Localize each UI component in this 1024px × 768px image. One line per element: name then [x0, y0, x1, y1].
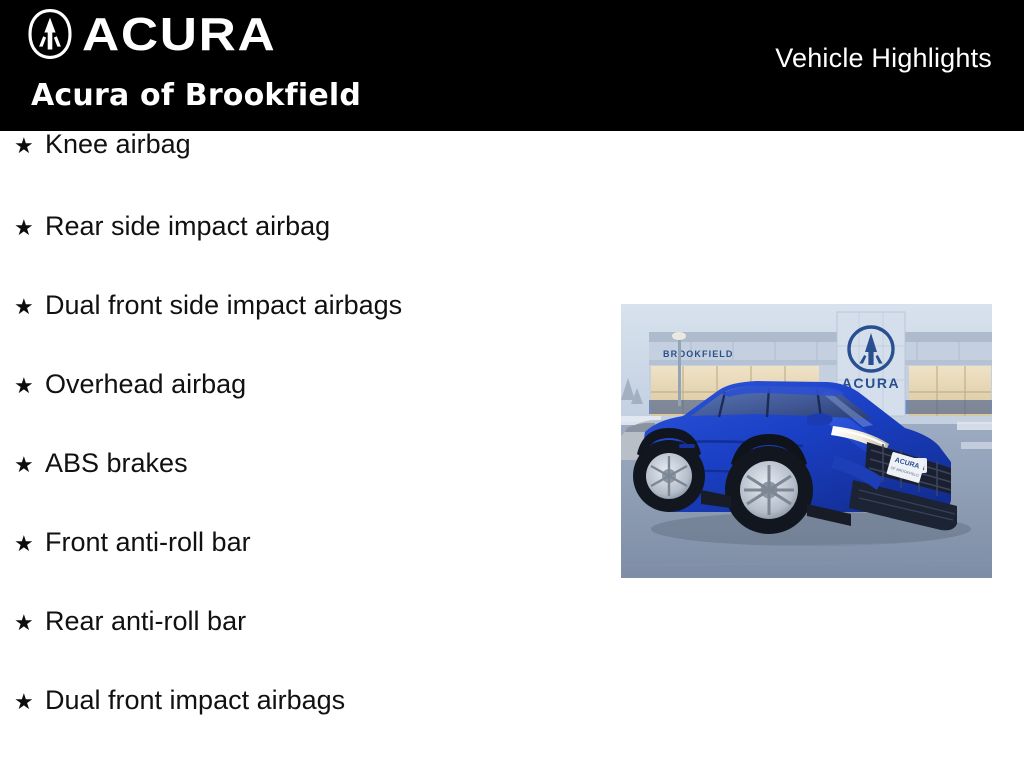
- list-item: ★ Dual front impact airbags: [0, 687, 600, 766]
- star-bullet-icon: ★: [14, 218, 45, 240]
- vehicle-photo: BROOKFIELD ACURA: [621, 304, 992, 578]
- building-sign-text: BROOKFIELD: [663, 349, 734, 359]
- list-item: ★ Dual front side impact airbags: [0, 292, 600, 371]
- star-bullet-icon: ★: [14, 534, 45, 556]
- list-item: ★ ABS brakes: [0, 450, 600, 529]
- feature-label: Knee airbag: [45, 131, 191, 158]
- feature-label: ABS brakes: [45, 450, 188, 477]
- star-bullet-icon: ★: [14, 297, 45, 319]
- feature-label: Dual front side impact airbags: [45, 292, 402, 319]
- acura-caliper-emblem-icon: [27, 9, 73, 59]
- star-bullet-icon: ★: [14, 376, 45, 398]
- list-item: ★ Rear side impact airbag: [0, 213, 600, 292]
- feature-label: Rear anti-roll bar: [45, 608, 246, 635]
- list-item: ★ Front anti-roll bar: [0, 529, 600, 608]
- feature-label: Front anti-roll bar: [45, 529, 251, 556]
- feature-label: Overhead airbag: [45, 371, 246, 398]
- star-bullet-icon: ★: [14, 613, 45, 635]
- star-bullet-icon: ★: [14, 692, 45, 714]
- list-item: ★ Rear anti-roll bar: [0, 608, 600, 687]
- dealer-name: Acura of Brookfield: [31, 81, 361, 111]
- star-bullet-icon: ★: [14, 455, 45, 477]
- star-bullet-icon: ★: [14, 136, 45, 158]
- feature-label: Dual front impact airbags: [45, 687, 345, 714]
- page-header: ACURA Acura of Brookfield Vehicle Highli…: [0, 0, 1024, 131]
- brand-logo-row: ACURA: [27, 8, 361, 60]
- feature-label: Rear side impact airbag: [45, 213, 330, 240]
- list-item: ★ Knee airbag: [0, 131, 600, 213]
- page-title: Vehicle Highlights: [775, 45, 992, 72]
- brand-block: ACURA Acura of Brookfield: [27, 8, 361, 111]
- acura-wordmark: ACURA: [82, 11, 276, 57]
- vehicle-highlights-list: ★ Knee airbag ★ Rear side impact airbag …: [0, 131, 600, 766]
- list-item: ★ Overhead airbag: [0, 371, 600, 450]
